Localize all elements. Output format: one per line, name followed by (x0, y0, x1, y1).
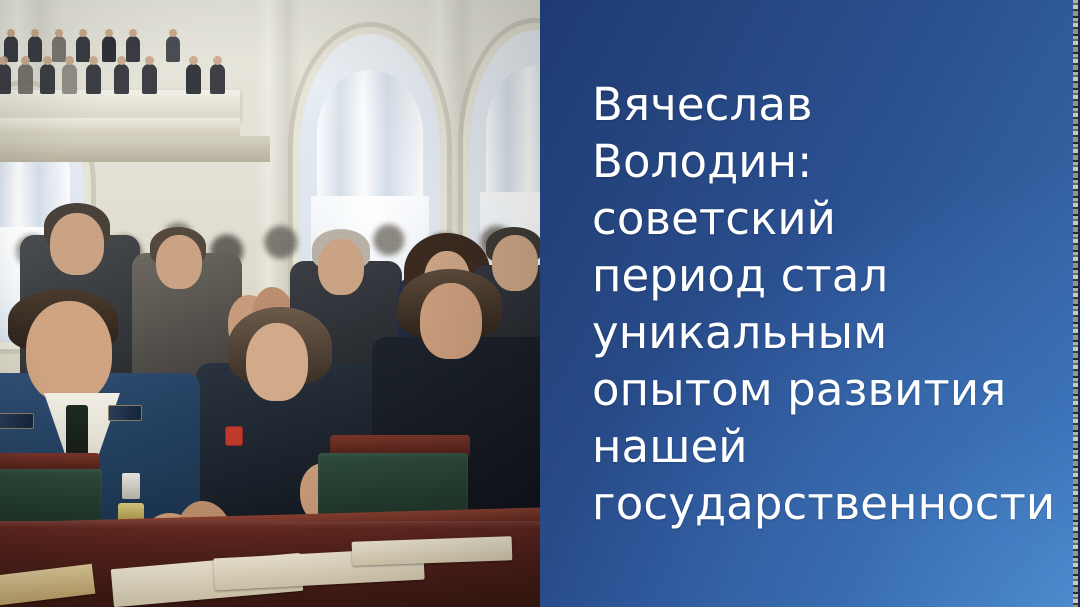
balcony-figure (142, 64, 157, 94)
officer-head (26, 301, 112, 403)
headline-container: Вячеслав Володин: советский период стал … (592, 0, 1060, 607)
balcony-figure (28, 36, 42, 62)
page-title: Вячеслав Володин: советский период стал … (592, 76, 1022, 532)
balcony-figure (114, 64, 129, 94)
balcony-figure (0, 64, 11, 94)
balcony-figure (52, 36, 66, 62)
balcony-figure (186, 64, 201, 94)
collar-tab (0, 413, 34, 429)
balcony-figure (62, 64, 77, 94)
order-badge (226, 427, 242, 445)
balcony-figure (166, 36, 180, 62)
balcony (0, 0, 240, 120)
front-delegate-head (420, 283, 482, 359)
balcony-figure (102, 36, 116, 62)
balcony-slab (0, 136, 270, 162)
service-badge (122, 473, 140, 499)
balcony-figure (210, 64, 225, 94)
hall-photograph (0, 0, 540, 607)
balcony-figure (76, 36, 90, 62)
slide-canvas: Вячеслав Володин: советский период стал … (0, 0, 1080, 607)
balcony-figure (18, 64, 33, 94)
headline-panel: Вячеслав Володин: советский период стал … (540, 0, 1080, 607)
balcony-rail (0, 90, 240, 120)
balcony-figure (86, 64, 101, 94)
front-delegate-head (246, 323, 308, 401)
front-row (0, 277, 540, 607)
balcony-figure (126, 36, 140, 62)
balcony-figure (40, 64, 55, 94)
collar-tab (108, 405, 142, 421)
delegate-head (50, 213, 104, 275)
